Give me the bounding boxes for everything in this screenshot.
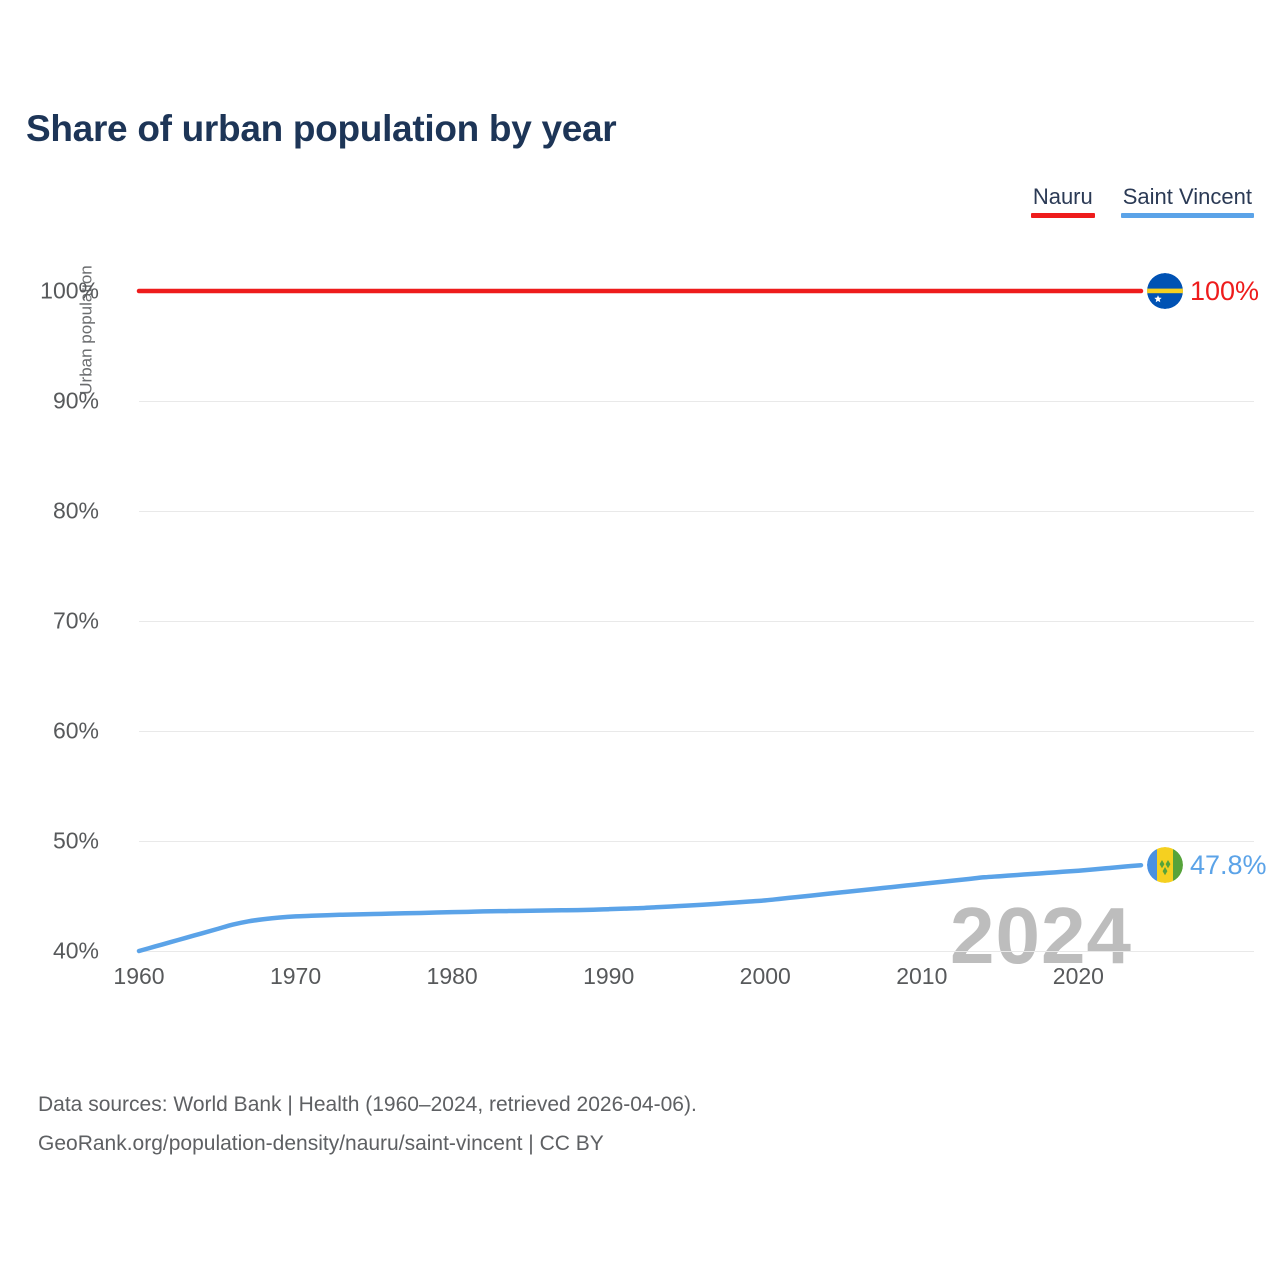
footer-attribution: GeoRank.org/population-density/nauru/sai… bbox=[38, 1124, 697, 1163]
x-tick-label: 1960 bbox=[113, 963, 164, 990]
x-tick-label: 2000 bbox=[740, 963, 791, 990]
y-tick-label: 40% bbox=[53, 938, 99, 965]
x-tick-label: 1990 bbox=[583, 963, 634, 990]
series-lines bbox=[139, 291, 1254, 951]
x-tick-label: 1970 bbox=[270, 963, 321, 990]
legend-label-saint-vincent: Saint Vincent bbox=[1121, 184, 1254, 210]
nauru-flag-icon bbox=[1147, 273, 1183, 309]
endpoint-saint-vincent[interactable]: 47.8% bbox=[1147, 847, 1267, 883]
y-tick-label: 70% bbox=[53, 608, 99, 635]
x-tick-label: 2020 bbox=[1053, 963, 1104, 990]
legend-item-saint-vincent[interactable]: Saint Vincent bbox=[1121, 184, 1254, 218]
legend-item-nauru[interactable]: Nauru bbox=[1031, 184, 1095, 218]
saint-vincent-flag-icon bbox=[1147, 847, 1183, 883]
footer-data-sources: Data sources: World Bank | Health (1960–… bbox=[38, 1085, 697, 1124]
plot-area: 40%50%60%70%80%90%100% 19601970198019902… bbox=[139, 291, 1254, 951]
y-tick-label: 60% bbox=[53, 718, 99, 745]
x-tick-label: 2010 bbox=[896, 963, 947, 990]
endpoint-value-nauru: 100% bbox=[1190, 276, 1259, 307]
y-tick-label: 50% bbox=[53, 828, 99, 855]
legend-swatch-saint-vincent bbox=[1121, 213, 1254, 218]
endpoint-value-saint-vincent: 47.8% bbox=[1190, 850, 1267, 881]
chart-container: Share of urban population by year Nauru … bbox=[0, 0, 1280, 1280]
gridline bbox=[139, 951, 1254, 952]
y-tick-label: 100% bbox=[40, 278, 99, 305]
endpoint-nauru[interactable]: 100% bbox=[1147, 273, 1259, 309]
footer: Data sources: World Bank | Health (1960–… bbox=[38, 1085, 697, 1163]
x-tick-label: 1980 bbox=[427, 963, 478, 990]
chart-legend: Nauru Saint Vincent bbox=[1031, 184, 1254, 218]
line-saint-vincent bbox=[139, 865, 1141, 951]
y-tick-label: 90% bbox=[53, 388, 99, 415]
y-axis-label-wrap: Urban population bbox=[22, 0, 151, 660]
y-tick-label: 80% bbox=[53, 498, 99, 525]
legend-label-nauru: Nauru bbox=[1031, 184, 1095, 210]
legend-swatch-nauru bbox=[1031, 213, 1095, 218]
